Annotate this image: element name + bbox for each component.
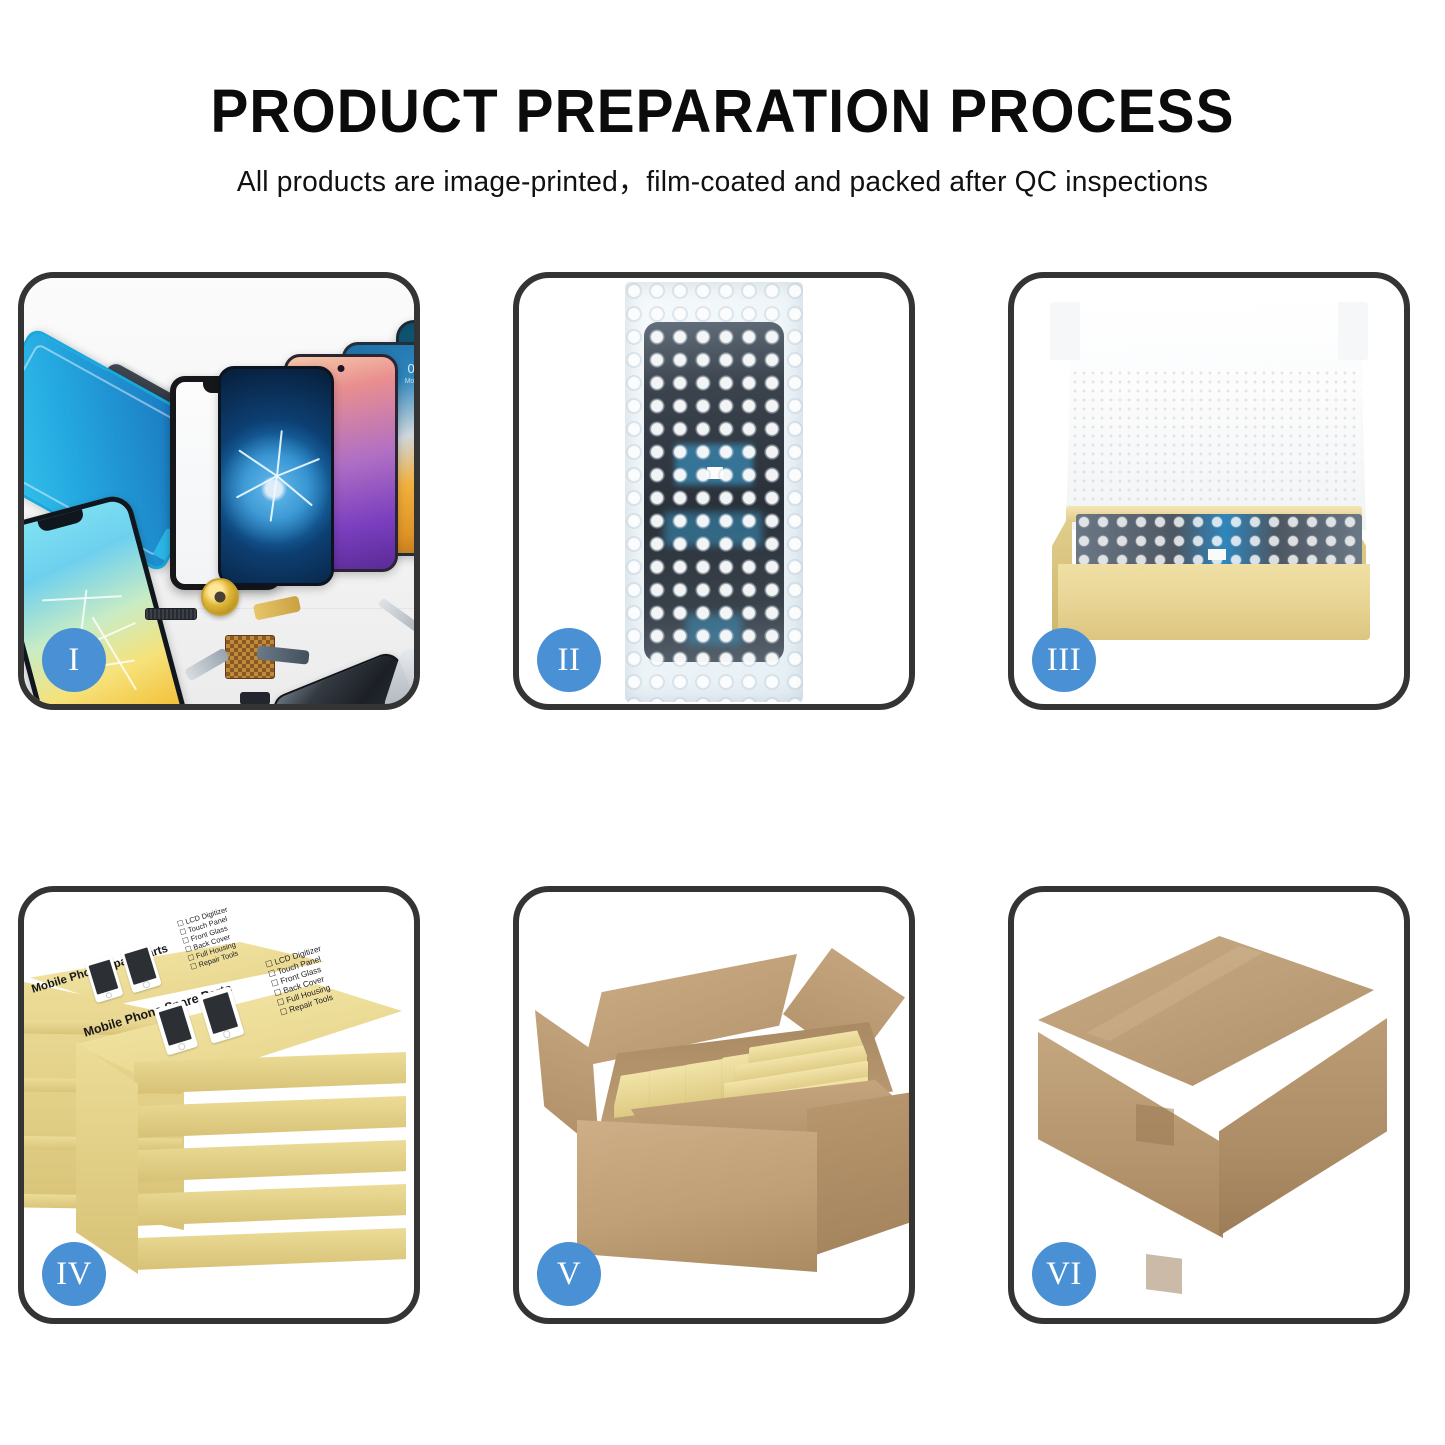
step-numeral: IV	[56, 1258, 92, 1291]
phone-cracked-display	[218, 366, 334, 586]
step-numeral: V	[557, 1258, 581, 1291]
step-numeral: VI	[1046, 1258, 1082, 1291]
foam-lining	[1070, 368, 1362, 520]
step-numeral: I	[68, 644, 80, 677]
step-panel-5[interactable]: V	[513, 886, 915, 1324]
step-badge-1: I	[42, 628, 106, 692]
step-panel-4[interactable]: Mobile Phone Spare Parts ☐ LCD Digitizer…	[18, 886, 420, 1324]
small-component-part	[240, 692, 270, 704]
step-panel-3[interactable]: III	[1008, 272, 1410, 710]
step-badge-4: IV	[42, 1242, 106, 1306]
speaker-part	[145, 608, 197, 620]
step-numeral: III	[1047, 644, 1081, 677]
process-steps-grid: 08:08Mon, 8 Feb	[0, 0, 1445, 1445]
tape-patch-lower	[1146, 1254, 1182, 1294]
bubble-wrap-bag	[625, 282, 803, 702]
step-panel-1[interactable]: 08:08Mon, 8 Feb	[18, 272, 420, 710]
carton-side-front	[577, 1120, 817, 1272]
step-badge-2: II	[537, 628, 601, 692]
box-front-wall	[1058, 564, 1370, 640]
carton-side-right	[807, 1092, 909, 1258]
step-badge-5: V	[537, 1242, 601, 1306]
step-panel-2[interactable]: II	[513, 272, 915, 710]
step-badge-3: III	[1032, 628, 1096, 692]
lid-tab-left	[1050, 302, 1080, 360]
step-badge-6: VI	[1032, 1242, 1096, 1306]
step-panel-6[interactable]: VI	[1008, 886, 1410, 1324]
box-layer	[134, 1228, 406, 1270]
bubble-texture	[625, 282, 803, 702]
lid-tab-right	[1338, 302, 1368, 360]
step-numeral: II	[558, 644, 581, 677]
camera-module-part	[201, 578, 239, 616]
tape-patch-upper	[1136, 1104, 1174, 1146]
